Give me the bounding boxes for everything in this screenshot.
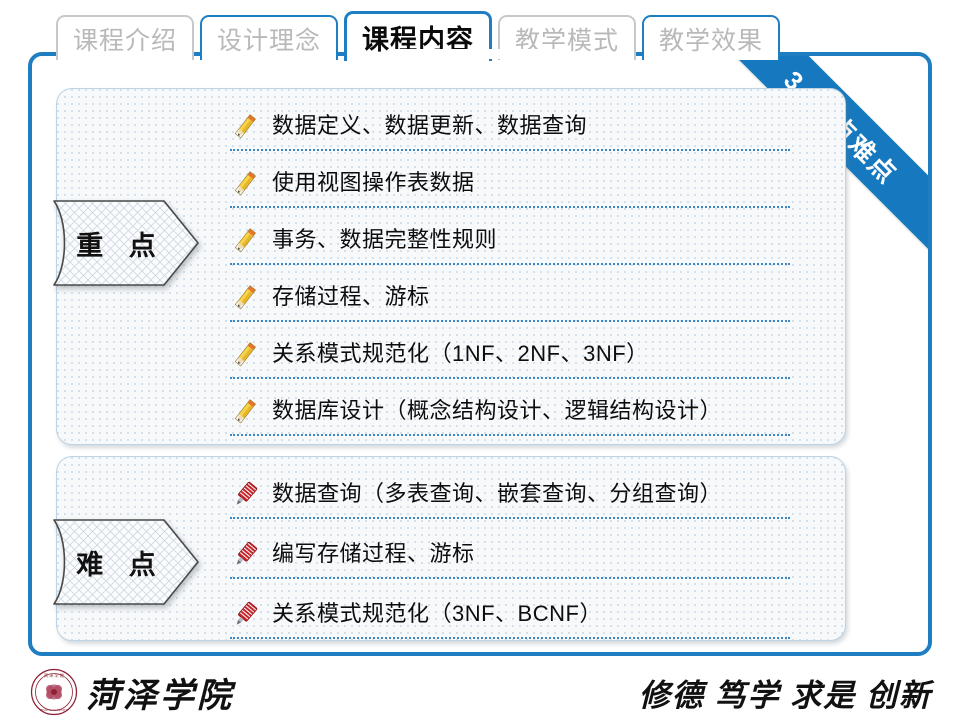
key-points-badge: 重 点 — [52, 199, 200, 287]
list-item[interactable]: 编写存储过程、游标 — [230, 532, 790, 579]
difficult-points-list: 数据查询（多表查询、嵌套查询、分组查询） — [230, 472, 790, 652]
footer: 菏 泽 学 院 HEZE UNIVERSITY 菏泽学院 修德 笃学 求是 创新 — [0, 664, 960, 720]
pencil-icon — [230, 396, 260, 426]
list-item-text: 数据库设计（概念结构设计、逻辑结构设计） — [272, 400, 722, 422]
university-seal-icon: 菏 泽 学 院 HEZE UNIVERSITY — [30, 668, 78, 716]
list-item[interactable]: 数据库设计（概念结构设计、逻辑结构设计） — [230, 389, 790, 436]
tab-design-concept[interactable]: 设计理念 — [200, 15, 338, 60]
svg-text:菏 泽 学 院: 菏 泽 学 院 — [44, 672, 65, 679]
pencil-icon — [230, 282, 260, 312]
university-name: 菏泽学院 — [86, 668, 234, 717]
pencil-icon — [230, 339, 260, 369]
list-item[interactable]: 关系模式规范化（3NF、BCNF） — [230, 592, 790, 639]
slide-root: 3. 重点难点 重 点 — [0, 0, 960, 720]
list-item-text: 关系模式规范化（1NF、2NF、3NF） — [272, 343, 649, 365]
tab-course-intro[interactable]: 课程介绍 — [56, 15, 194, 60]
list-item-text: 事务、数据完整性规则 — [272, 229, 497, 251]
list-item[interactable]: 数据查询（多表查询、嵌套查询、分组查询） — [230, 472, 790, 519]
list-item[interactable]: 关系模式规范化（1NF、2NF、3NF） — [230, 332, 790, 379]
pencil-icon — [230, 111, 260, 141]
red-marker-icon — [230, 539, 260, 569]
list-item-text: 存储过程、游标 — [272, 286, 430, 308]
key-points-list: 数据定义、数据更新、数据查询 使用视图操作表数据 — [230, 104, 790, 446]
active-tab-notch — [392, 49, 564, 59]
tab-label: 课程介绍 — [73, 21, 177, 57]
svg-text:HEZE UNIVERSITY: HEZE UNIVERSITY — [40, 708, 69, 712]
list-item-text: 数据查询（多表查询、嵌套查询、分组查询） — [272, 483, 722, 505]
list-item[interactable]: 数据定义、数据更新、数据查询 — [230, 104, 790, 151]
pencil-icon — [230, 168, 260, 198]
difficult-points-badge: 难 点 — [52, 518, 200, 606]
list-item-text: 使用视图操作表数据 — [272, 172, 475, 194]
list-item-text: 编写存储过程、游标 — [272, 543, 475, 565]
list-item[interactable]: 事务、数据完整性规则 — [230, 218, 790, 265]
pencil-icon — [230, 225, 260, 255]
list-item[interactable]: 存储过程、游标 — [230, 275, 790, 322]
list-item-text: 关系模式规范化（3NF、BCNF） — [272, 603, 602, 625]
red-marker-icon — [230, 479, 260, 509]
tab-teaching-effect[interactable]: 教学效果 — [642, 15, 780, 60]
tab-label: 教学效果 — [659, 21, 763, 57]
tab-label: 设计理念 — [217, 21, 321, 57]
university-motto: 修德 笃学 求是 创新 — [639, 670, 932, 715]
red-marker-icon — [230, 599, 260, 629]
list-item[interactable]: 使用视图操作表数据 — [230, 161, 790, 208]
list-item-text: 数据定义、数据更新、数据查询 — [272, 115, 587, 137]
